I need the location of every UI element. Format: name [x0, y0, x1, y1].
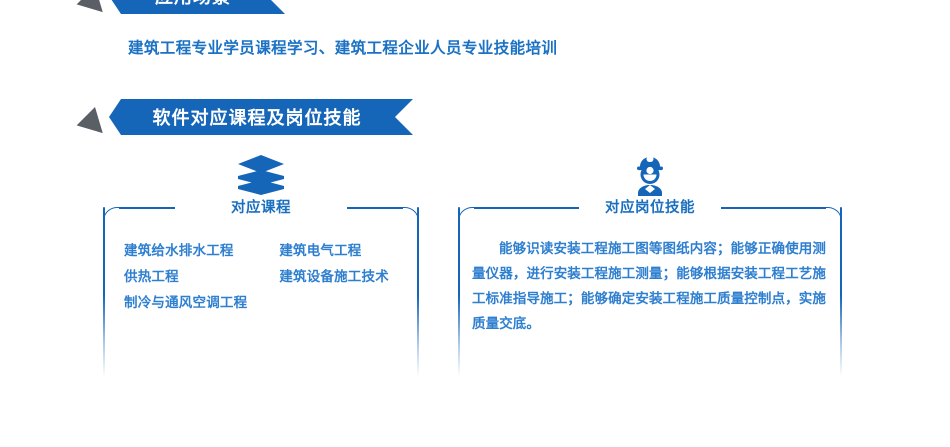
list-item: 建筑给水排水工程	[124, 239, 247, 259]
courses-panel: 对应课程 建筑给水排水工程 供热工程 制冷与通风空调工程 建筑电气工程 建筑设备…	[103, 207, 419, 377]
skills-panel-box: 对应岗位技能 能够识读安装工程施工图等图纸内容；能够正确使用测量仪器，进行安装工…	[458, 207, 842, 377]
left-triangle-icon	[77, 0, 112, 21]
courses-list: 建筑给水排水工程 供热工程 制冷与通风空调工程 建筑电气工程 建筑设备施工技术	[124, 239, 389, 311]
banner-software-courses-skills-body: 软件对应课程及岗位技能	[109, 99, 413, 135]
panel-left-border	[458, 207, 460, 377]
banner-application-scene-body: 应用场景	[109, 0, 285, 14]
skills-description: 能够识读安装工程施工图等图纸内容；能够正确使用测量仪器，进行安装工程施工测量；能…	[472, 237, 826, 337]
courses-panel-box: 对应课程 建筑给水排水工程 供热工程 制冷与通风空调工程 建筑电气工程 建筑设备…	[103, 207, 419, 377]
list-item: 建筑电气工程	[279, 239, 389, 259]
list-item: 建筑设备施工技术	[279, 265, 389, 285]
intro-description: 建筑工程专业学员课程学习、建筑工程企业人员专业技能培训	[128, 36, 557, 58]
left-triangle-icon	[77, 107, 112, 142]
banner-software-courses-skills-label: 软件对应课程及岗位技能	[135, 104, 388, 130]
courses-column-left: 建筑给水排水工程 供热工程 制冷与通风空调工程	[124, 239, 247, 311]
courses-column-right: 建筑电气工程 建筑设备施工技术	[279, 239, 389, 311]
panel-left-border	[103, 207, 105, 377]
list-item: 制冷与通风空调工程	[124, 291, 247, 311]
skills-panel-title: 对应岗位技能	[458, 196, 842, 217]
layers-stack-icon	[103, 155, 419, 195]
banner-application-scene-label: 应用场景	[137, 0, 257, 9]
worker-helmet-icon	[458, 155, 842, 197]
skills-panel: 对应岗位技能 能够识读安装工程施工图等图纸内容；能够正确使用测量仪器，进行安装工…	[458, 207, 842, 377]
panel-right-border	[417, 207, 419, 377]
panel-right-border	[840, 207, 842, 377]
courses-panel-title: 对应课程	[103, 196, 419, 217]
list-item: 供热工程	[124, 265, 247, 285]
